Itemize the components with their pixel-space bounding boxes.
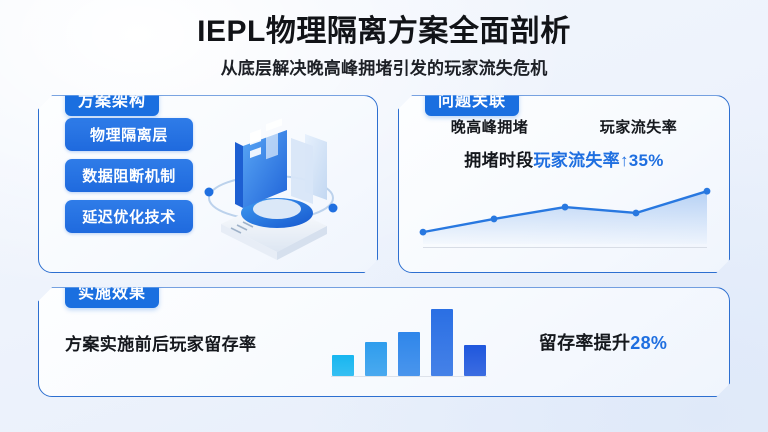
problem-labels: 晚高峰拥堵 玩家流失率 [415, 116, 713, 137]
server-isolation-3d-icon [193, 118, 377, 272]
line-data-point [420, 229, 427, 236]
churn-line-chart [415, 172, 715, 256]
panel-effect: 实施效果 方案实施前后玩家留存率 留存率提升28% [38, 287, 730, 397]
panel-architecture-badge: 方案架构 [65, 83, 159, 116]
panels-row: 方案架构 物理隔离层 数据阻断机制 延迟优化技术 [0, 79, 768, 273]
pill-data-blocking[interactable]: 数据阻断机制 [65, 159, 193, 192]
bar-5 [464, 345, 486, 376]
bar-1 [332, 355, 354, 377]
page-header: IEPL物理隔离方案全面剖析 从底层解决晚高峰拥堵引发的玩家流失危机 [0, 0, 768, 79]
line-data-point [562, 204, 569, 211]
retention-bar-chart [315, 301, 503, 383]
problem-stat-prefix: 拥堵时段 [464, 151, 533, 170]
panel-problem-badge: 问题关联 [425, 83, 519, 116]
label-peak-congestion: 晚高峰拥堵 [451, 116, 529, 137]
problem-stat: 拥堵时段玩家流失率↑35% [415, 146, 713, 171]
bar-2 [365, 342, 387, 377]
pill-physical-isolation[interactable]: 物理隔离层 [65, 118, 193, 151]
page-subtitle: 从底层解决晚高峰拥堵引发的玩家流失危机 [0, 54, 768, 79]
line-data-point [704, 188, 711, 195]
pill-latency-optimization[interactable]: 延迟优化技术 [65, 200, 193, 233]
effect-stat-prefix: 留存率提升 [539, 333, 631, 353]
effect-stat-accent: 28% [630, 333, 667, 353]
line-data-point [633, 210, 640, 217]
bar-4 [431, 309, 453, 376]
bar-3 [398, 332, 420, 377]
problem-body: 晚高峰拥堵 玩家流失率 拥堵时段玩家流失率↑35% [399, 96, 729, 272]
panel-problem: 问题关联 晚高峰拥堵 玩家流失率 拥堵时段玩家流失率↑35% [398, 95, 730, 273]
problem-stat-accent: 玩家流失率↑35% [533, 151, 663, 170]
chart-axis-line [423, 247, 707, 248]
effect-label: 方案实施前后玩家留存率 [65, 330, 315, 355]
line-data-point [491, 216, 498, 223]
architecture-body: 物理隔离层 数据阻断机制 延迟优化技术 [39, 96, 377, 272]
architecture-pill-list: 物理隔离层 数据阻断机制 延迟优化技术 [39, 118, 193, 272]
effect-stat: 留存率提升28% [503, 329, 703, 355]
panel-architecture: 方案架构 物理隔离层 数据阻断机制 延迟优化技术 [38, 95, 378, 273]
label-churn-rate: 玩家流失率 [600, 116, 678, 137]
page-title: IEPL物理隔离方案全面剖析 [0, 14, 768, 49]
panel-effect-badge: 实施效果 [65, 275, 159, 308]
